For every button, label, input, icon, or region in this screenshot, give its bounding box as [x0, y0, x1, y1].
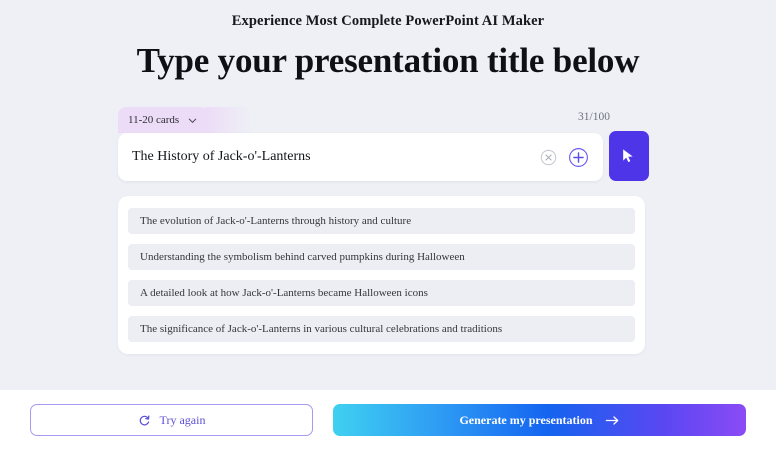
page-background: Experience Most Complete PowerPoint AI M… — [0, 0, 776, 390]
refresh-icon — [138, 414, 151, 427]
cursor-pointer-icon — [619, 146, 639, 166]
list-item[interactable]: The significance of Jack-o'-Lanterns in … — [128, 316, 635, 342]
cursor-action-button[interactable] — [609, 131, 649, 181]
circle-plus-icon[interactable] — [568, 147, 589, 168]
presentation-title-input[interactable] — [132, 149, 540, 165]
character-counter: 31/100 — [578, 111, 610, 123]
tab-fade-decoration — [205, 107, 265, 133]
footer-action-bar: Try again Generate my presentation — [0, 390, 776, 450]
eyebrow-text: Experience Most Complete PowerPoint AI M… — [0, 13, 776, 30]
title-input-card — [118, 133, 603, 181]
circle-x-icon[interactable] — [540, 149, 557, 166]
generate-label: Generate my presentation — [459, 413, 592, 428]
list-item[interactable]: Understanding the symbolism behind carve… — [128, 244, 635, 270]
cards-count-value: 11-20 cards — [128, 114, 179, 126]
page-title: Type your presentation title below — [0, 41, 776, 81]
try-again-label: Try again — [160, 413, 206, 428]
list-item[interactable]: A detailed look at how Jack-o'-Lanterns … — [128, 280, 635, 306]
list-item[interactable]: The evolution of Jack-o'-Lanterns throug… — [128, 208, 635, 234]
generate-presentation-button[interactable]: Generate my presentation — [333, 404, 746, 436]
try-again-button[interactable]: Try again — [30, 404, 313, 436]
chevron-down-icon — [187, 115, 198, 126]
suggestions-card: The evolution of Jack-o'-Lanterns throug… — [118, 196, 645, 354]
cards-count-dropdown[interactable]: 11-20 cards — [118, 107, 208, 133]
arrow-right-icon — [605, 414, 620, 427]
